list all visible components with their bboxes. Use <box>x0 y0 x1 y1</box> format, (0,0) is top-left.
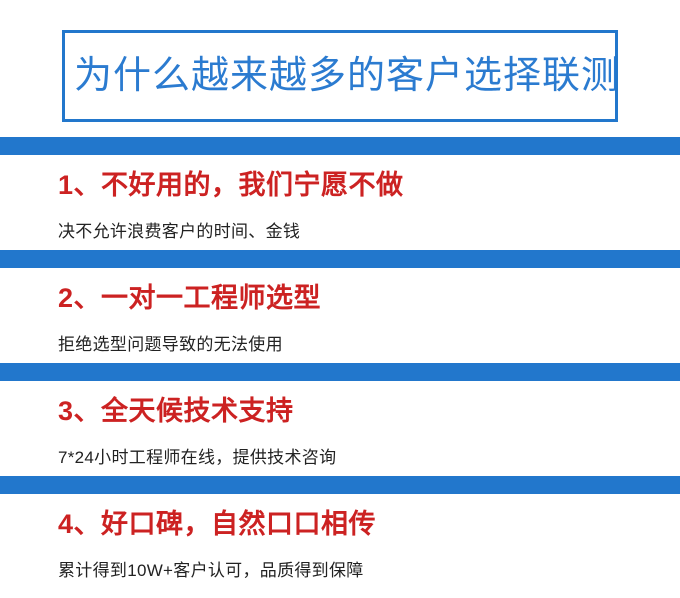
feature-block-4: 4、好口碑，自然口口相传 累计得到10W+客户认可，品质得到保障 <box>0 476 680 589</box>
feature-subtitle: 决不允许浪费客户的时间、金钱 <box>58 223 680 240</box>
feature-heading: 3、全天候技术支持 <box>58 398 680 425</box>
feature-block-1: 1、不好用的，我们宁愿不做 决不允许浪费客户的时间、金钱 <box>0 137 680 250</box>
feature-subtitle: 累计得到10W+客户认可，品质得到保障 <box>58 562 680 579</box>
feature-body: 1、不好用的，我们宁愿不做 决不允许浪费客户的时间、金钱 <box>0 155 680 250</box>
feature-body: 3、全天候技术支持 7*24小时工程师在线，提供技术咨询 <box>0 381 680 476</box>
divider-rule <box>0 250 680 268</box>
promo-page: 为什么越来越多的客户选择联测 1、不好用的，我们宁愿不做 决不允许浪费客户的时间… <box>0 0 680 598</box>
page-title-box: 为什么越来越多的客户选择联测 <box>62 30 618 122</box>
page-title: 为什么越来越多的客户选择联测 <box>65 57 618 95</box>
feature-block-2: 2、一对一工程师选型 拒绝选型问题导致的无法使用 <box>0 250 680 363</box>
feature-heading: 4、好口碑，自然口口相传 <box>58 511 680 538</box>
feature-subtitle: 拒绝选型问题导致的无法使用 <box>58 336 680 353</box>
divider-rule <box>0 137 680 155</box>
divider-rule <box>0 363 680 381</box>
feature-block-3: 3、全天候技术支持 7*24小时工程师在线，提供技术咨询 <box>0 363 680 476</box>
feature-list: 1、不好用的，我们宁愿不做 决不允许浪费客户的时间、金钱 2、一对一工程师选型 … <box>0 137 680 589</box>
feature-body: 4、好口碑，自然口口相传 累计得到10W+客户认可，品质得到保障 <box>0 494 680 589</box>
feature-heading: 2、一对一工程师选型 <box>58 285 680 312</box>
feature-heading: 1、不好用的，我们宁愿不做 <box>58 172 680 199</box>
divider-rule <box>0 476 680 494</box>
feature-body: 2、一对一工程师选型 拒绝选型问题导致的无法使用 <box>0 268 680 363</box>
feature-subtitle: 7*24小时工程师在线，提供技术咨询 <box>58 449 680 466</box>
